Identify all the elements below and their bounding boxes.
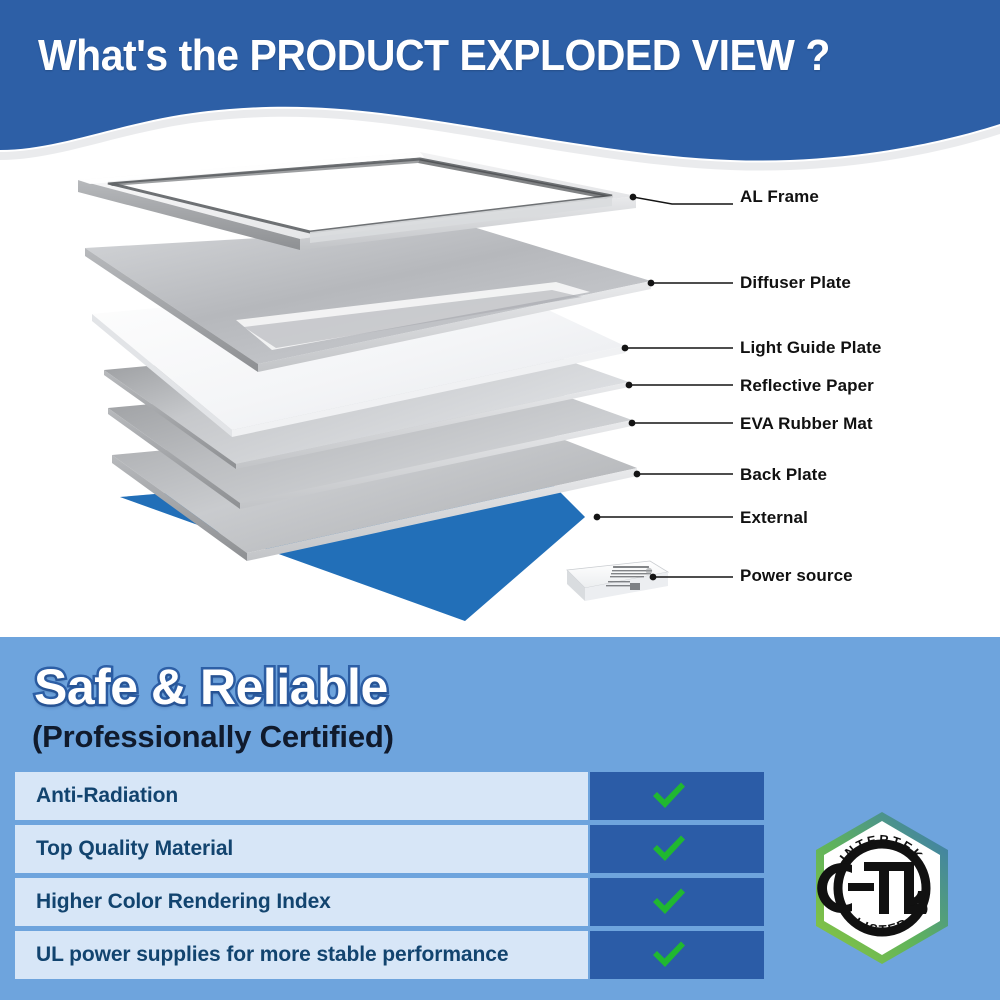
label-external: External [740,508,808,528]
feature-label: UL power supplies for more stable perfor… [15,931,588,979]
label-reflective-paper: Reflective Paper [740,376,874,396]
power-source-driver [567,561,668,601]
safe-reliable-title: Safe & Reliable [34,658,388,716]
check-icon [651,940,687,970]
exploded-view-section: What's the PRODUCT EXPLODED VIEW ? [0,0,1000,637]
feature-label: Top Quality Material [15,825,588,873]
etl-listed-intertek-badge: INTERTEK LISTED [808,809,956,967]
feature-check-cell [590,878,764,926]
label-power-source: Power source [740,566,853,586]
feature-label: Anti-Radiation [15,772,588,820]
product-infographic-page: What's the PRODUCT EXPLODED VIEW ? [0,0,1000,1000]
check-icon [651,887,687,917]
feature-check-cell [590,931,764,979]
safe-reliable-section: Safe & Reliable (Professionally Certifie… [0,637,1000,1000]
label-back-plate: Back Plate [740,465,827,485]
check-icon [651,834,687,864]
label-diffuser-plate: Diffuser Plate [740,273,851,293]
feature-check-cell [590,825,764,873]
layer-al-frame [78,152,636,250]
label-eva-rubber-mat: EVA Rubber Mat [740,414,873,434]
table-row: Top Quality Material [15,825,765,873]
professionally-certified-subtitle: (Professionally Certified) [32,719,394,755]
exploded-diagram [0,0,1000,637]
label-light-guide-plate: Light Guide Plate [740,338,882,358]
feature-label: Higher Color Rendering Index [15,878,588,926]
feature-check-cell [590,772,764,820]
table-row: Higher Color Rendering Index [15,878,765,926]
certification-feature-table: Anti-Radiation Top Quality Material High… [15,772,765,979]
check-icon [651,781,687,811]
label-al-frame: AL Frame [740,187,819,207]
table-row: UL power supplies for more stable perfor… [15,931,765,979]
table-row: Anti-Radiation [15,772,765,820]
